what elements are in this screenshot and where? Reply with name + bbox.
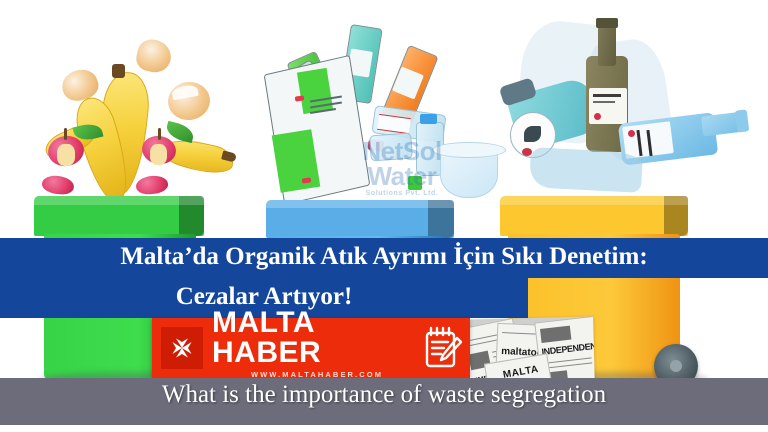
wine-label-line [593,94,621,97]
bottle-cap [420,114,437,124]
newspaper-headline: INDEPENDENT [541,340,595,357]
bottom-white-strip [0,425,768,432]
wine-label-line [593,101,615,103]
glass-label-dot [628,130,635,137]
paper-plastic-bin-lid [266,200,454,238]
wine-bottle-neck [598,22,616,66]
wine-bottle-cap [596,18,618,28]
logo-text-block: MALTA HABER WWW.MALTAHABER.COM MALTA'NIN… [203,308,422,389]
jar-contents [524,126,541,142]
apple-core-flesh [150,144,167,165]
logo-title: MALTA HABER [212,308,422,368]
organic-bin-lid-highlight [34,196,204,205]
green-chip [408,176,422,190]
apple-stem [64,128,67,140]
organic-bin-lid [34,196,204,236]
caption-text: What is the importance of waste segregat… [0,381,768,409]
notepad-pencil-icon [422,325,462,371]
plastic-lid [432,142,506,158]
malta-haber-logo[interactable]: MALTA HABER WWW.MALTAHABER.COM MALTA'NIN… [152,318,470,378]
wine-label-dot [594,113,601,120]
paper-plastic-lid-highlight [266,200,454,208]
glass-shard [529,147,643,193]
maltese-cross-icon [161,327,203,369]
news-thumbnail-image: NetSol Water Solutions Pvt. Ltd. Malta’d… [0,0,768,432]
headline-line-1: Malta’da Organik Atık Ayrımı İçin Sıkı D… [0,238,768,278]
headline-banner: Malta’da Organik Atık Ayrımı İçin Sıkı D… [0,238,768,318]
glass-bin-lid-highlight [500,196,688,205]
banana-stem [112,64,125,78]
apple-core [135,174,169,195]
eggshell [134,37,174,75]
glass-bin-lid [500,196,688,236]
plastic-bottle [369,133,413,162]
apple-core [41,174,75,196]
glass-bottle-mouth [735,109,750,132]
apple-core-flesh [57,144,75,166]
apple-stem [158,128,161,140]
